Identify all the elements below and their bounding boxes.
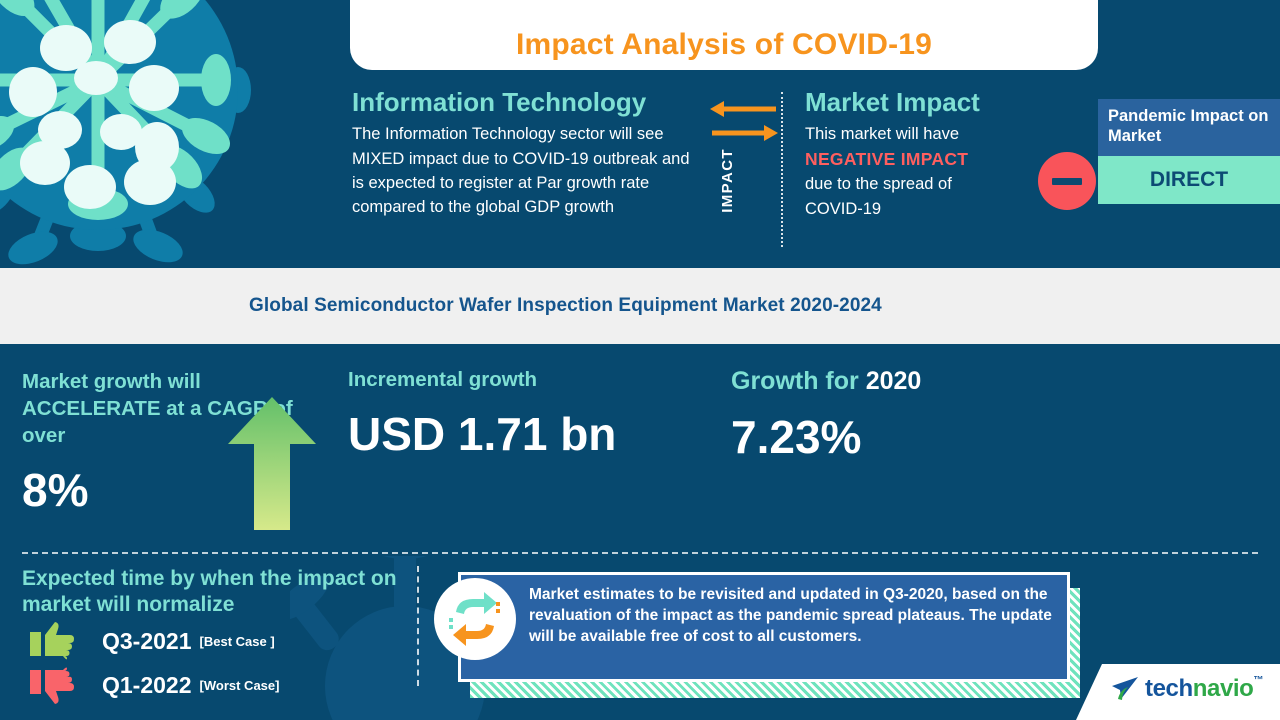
market-title-bar: Global Semiconductor Wafer Inspection Eq… (0, 268, 1280, 344)
logo-text-tech: tech (1145, 675, 1193, 702)
sector-heading: Information Technology (352, 88, 702, 117)
metrics-section: Market growth will ACCELERATE at a CAGR … (0, 344, 1280, 556)
normalize-best-quarter: Q3-2021 (102, 628, 192, 655)
pandemic-impact-value: DIRECT (1098, 156, 1280, 204)
normalize-worst-quarter: Q1-2022 (102, 672, 192, 699)
normalize-worst-tag: [Worst Case] (200, 678, 280, 693)
refresh-cycle-icon (434, 578, 516, 660)
metric-growth-2020: Growth for 2020 7.23% (731, 368, 1001, 460)
impact-label-top: IMPACT (719, 148, 736, 213)
page-title: Impact Analysis of COVID-19 (516, 28, 932, 62)
metric-incremental: Incremental growth USD 1.71 bn (348, 366, 648, 457)
sector-column: Information Technology The Information T… (352, 88, 702, 220)
up-arrow-icon (228, 397, 316, 530)
normalize-case-worst: Q1-2022 [Worst Case] (30, 666, 279, 704)
normalize-case-best: Q3-2021 [Best Case ] (30, 622, 275, 660)
technavio-arrow-icon (1112, 677, 1140, 701)
infographic-root: Impact Analysis of COVID-19 Information … (0, 0, 1280, 720)
normalize-heading: Expected time by when the impact on mark… (22, 566, 422, 619)
metric-incremental-value: USD 1.71 bn (348, 411, 648, 457)
metric-growth-label-year: 2020 (866, 367, 922, 395)
horizontal-divider (22, 552, 1258, 554)
market-impact-heading: Market Impact (805, 88, 1090, 117)
sector-body: The Information Technology sector will s… (352, 122, 702, 220)
pandemic-impact-heading: Pandemic Impact on Market (1098, 99, 1280, 156)
note-box: Market estimates to be revisited and upd… (458, 572, 1070, 682)
metric-growth-value: 7.23% (731, 414, 1001, 460)
normalize-best-tag: [Best Case ] (200, 634, 275, 649)
thumbs-up-icon (30, 622, 74, 660)
market-title: Global Semiconductor Wafer Inspection Eq… (249, 295, 882, 317)
vertical-divider-bottom (417, 566, 419, 686)
top-section: Impact Analysis of COVID-19 Information … (0, 0, 1280, 268)
bidirectional-arrows-icon (708, 100, 780, 142)
virus-illustration (0, 0, 258, 268)
market-impact-line1: This market will have (805, 122, 1090, 146)
thumbs-down-icon (30, 666, 74, 704)
technavio-logo: technavio™ (1076, 664, 1280, 720)
metric-growth-label-teal: Growth for (731, 367, 859, 395)
logo-trademark: ™ (1253, 675, 1263, 686)
minus-circle-icon (1038, 152, 1096, 210)
metric-incremental-label: Incremental growth (348, 366, 648, 393)
vertical-divider-top (781, 92, 783, 247)
refresh-arrows (444, 588, 506, 650)
title-banner: Impact Analysis of COVID-19 (350, 0, 1098, 70)
logo-text-navio: navio (1193, 675, 1254, 702)
